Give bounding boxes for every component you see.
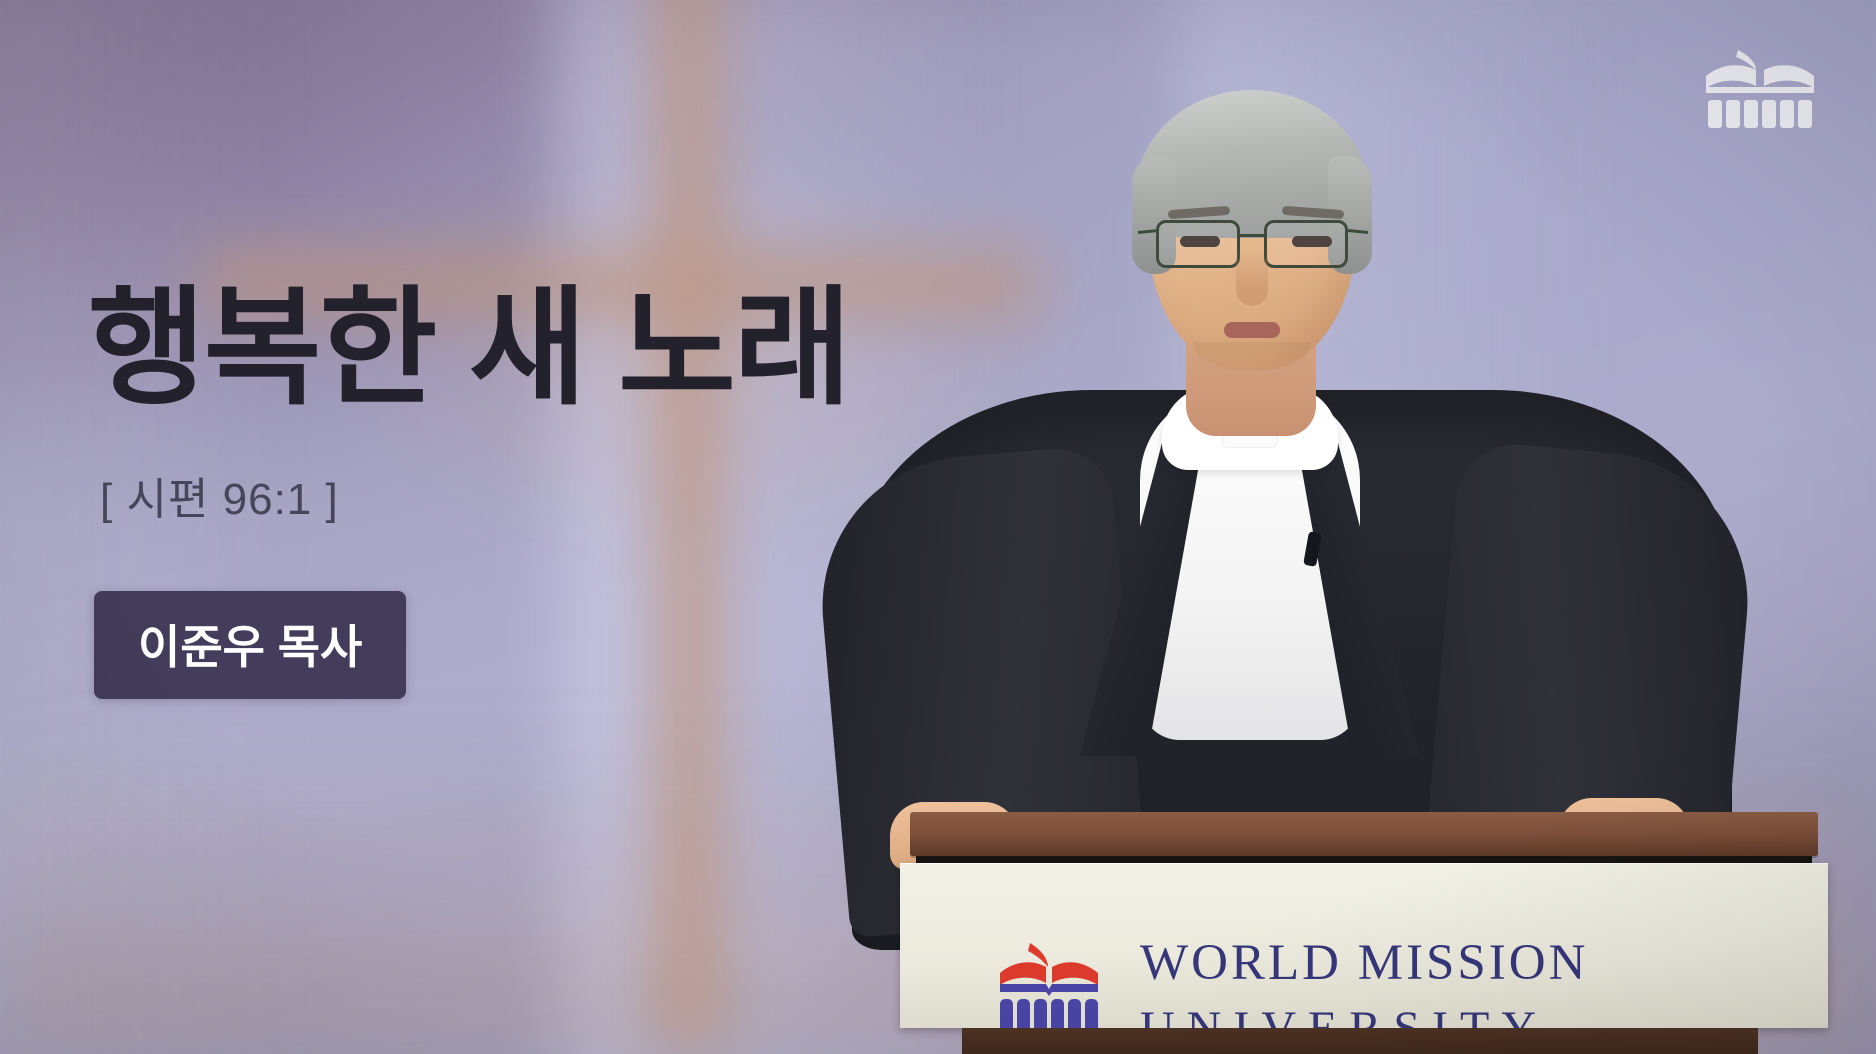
podium: WORLD MISSION UNIVERSITY — [900, 812, 1828, 1054]
glasses-lens-left — [1156, 220, 1240, 268]
sermon-title-slide: WORLD MISSION UNIVERSITY 행복한 새 노래 [ 시편 9… — [0, 0, 1876, 1054]
podium-base-column — [962, 1028, 1758, 1054]
mouth — [1224, 322, 1280, 338]
speaker-figure — [940, 60, 1700, 920]
sermon-title: 행복한 새 노래 — [88, 282, 948, 415]
glasses-bridge — [1240, 234, 1266, 237]
podium-top-rail — [910, 812, 1818, 856]
speaker-name-badge: 이준우 목사 — [94, 591, 406, 699]
headline-block: 행복한 새 노래 [ 시편 96:1 ] 이준우 목사 — [88, 282, 948, 699]
scripture-reference: [ 시편 96:1 ] — [100, 463, 948, 527]
wmu-org-line-1: WORLD MISSION — [1140, 938, 1588, 989]
glasses-lens-right — [1264, 220, 1348, 268]
chin — [1194, 342, 1310, 372]
wmu-watermark-icon — [1696, 40, 1824, 128]
glasses-temple-right — [1348, 229, 1368, 234]
speaker-name-label: 이준우 목사 — [138, 621, 362, 673]
nose — [1236, 250, 1268, 306]
podium-front-panel: WORLD MISSION UNIVERSITY — [900, 863, 1828, 1028]
